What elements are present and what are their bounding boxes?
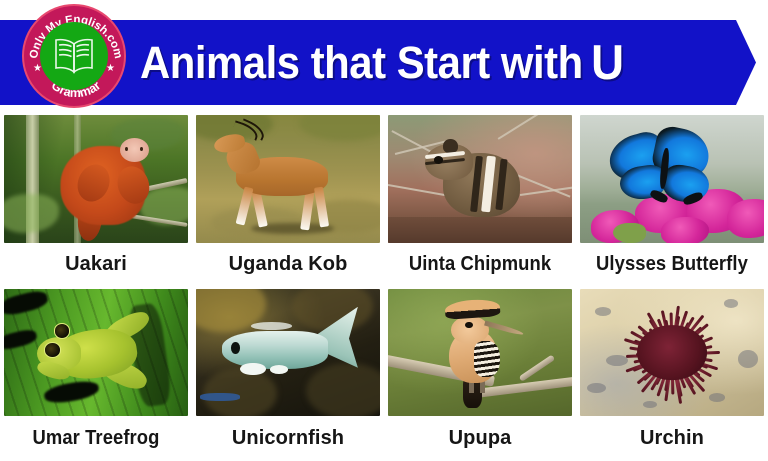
uganda-kob-photo <box>196 115 380 243</box>
grid-cell-umar-treefrog[interactable]: Umar Treefrog <box>0 286 192 461</box>
unicornfish-photo <box>196 289 380 416</box>
caption-upupa: Upupa <box>388 416 572 461</box>
page-title-main: Animals that Start with <box>140 37 583 89</box>
caption-ulysses-butterfly: Ulysses Butterfly <box>587 243 756 286</box>
grid-cell-upupa[interactable]: Upupa <box>384 286 576 461</box>
caption-uakari: Uakari <box>4 243 188 286</box>
umar-treefrog-photo <box>4 289 188 416</box>
grid-cell-ulysses-butterfly[interactable]: Ulysses Butterfly <box>576 112 768 286</box>
animals-u-infographic: Animals that Start with U Only My Englis… <box>0 0 768 461</box>
only-my-english-logo[interactable]: Only My English.com Grammar ★ ★ <box>22 4 126 108</box>
grid-cell-uakari[interactable]: Uakari <box>0 112 192 286</box>
caption-uinta-chipmunk: Uinta Chipmunk <box>395 243 564 286</box>
caption-uganda-kob: Uganda Kob <box>196 243 380 286</box>
uinta-chipmunk-photo <box>388 115 572 243</box>
caption-urchin: Urchin <box>580 416 764 461</box>
grid-cell-uganda-kob[interactable]: Uganda Kob <box>192 112 384 286</box>
star-right-icon: ★ <box>106 64 115 74</box>
grid-cell-uinta-chipmunk[interactable]: Uinta Chipmunk <box>384 112 576 286</box>
urchin-photo <box>580 289 764 416</box>
page-title-letter: U <box>583 35 624 91</box>
caption-unicornfish: Unicornfish <box>196 416 380 461</box>
header-banner: Animals that Start with U Only My Englis… <box>0 0 768 112</box>
animal-grid: Uakari <box>0 112 768 461</box>
logo-disc <box>40 22 108 90</box>
caption-umar-treefrog: Umar Treefrog <box>11 416 180 461</box>
uakari-photo <box>4 115 188 243</box>
page-title: Animals that Start with U <box>140 20 709 105</box>
open-book-icon <box>50 36 98 76</box>
grid-cell-unicornfish[interactable]: Unicornfish <box>192 286 384 461</box>
upupa-photo <box>388 289 572 416</box>
grid-cell-urchin[interactable]: Urchin <box>576 286 768 461</box>
ulysses-butterfly-photo <box>580 115 764 243</box>
